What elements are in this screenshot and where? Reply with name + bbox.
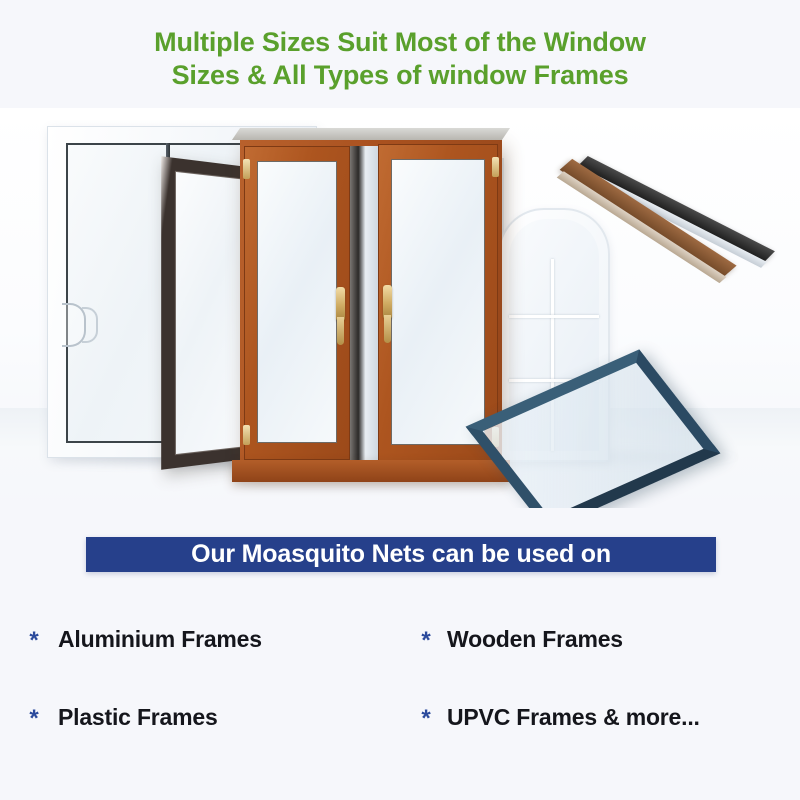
section-banner: Our Moasquito Nets can be used on xyxy=(86,537,716,572)
list-item: * Aluminium Frames xyxy=(10,600,405,678)
wooden-sash-left xyxy=(244,146,350,460)
bullet-asterisk-icon: * xyxy=(405,625,447,653)
list-item: * UPVC Frames & more... xyxy=(405,678,800,756)
brass-handle-arm-icon xyxy=(384,315,391,343)
hinge-icon xyxy=(243,425,250,445)
frame-type-list: * Aluminium Frames * Wooden Frames * Pla… xyxy=(0,600,800,756)
brass-handle-icon xyxy=(383,285,392,319)
list-item-label: UPVC Frames & more... xyxy=(447,704,700,731)
bullet-asterisk-icon: * xyxy=(405,703,447,731)
list-item: * Wooden Frames xyxy=(405,600,800,678)
page-title: Multiple Sizes Suit Most of the Window S… xyxy=(0,26,800,92)
arch-bar-horizontal xyxy=(509,315,599,318)
wooden-sash-right-glass xyxy=(391,159,485,445)
wooden-window-center-gap xyxy=(350,146,378,460)
product-banner-page: Multiple Sizes Suit Most of the Window S… xyxy=(0,0,800,800)
dark-window-glass xyxy=(175,171,247,455)
list-item-label: Plastic Frames xyxy=(58,704,218,731)
list-item: * Plastic Frames xyxy=(10,678,405,756)
brass-handle-arm-icon xyxy=(337,317,344,345)
wooden-double-casement xyxy=(240,138,502,468)
wooden-window-sill xyxy=(232,460,510,482)
headline-line-2: Sizes & All Types of window Frames xyxy=(0,59,800,92)
bullet-asterisk-icon: * xyxy=(10,625,58,653)
wooden-sash-right xyxy=(378,144,498,462)
hinge-icon xyxy=(243,159,250,179)
headline-line-1: Multiple Sizes Suit Most of the Window xyxy=(154,27,646,57)
door-pull-handle-secondary-icon xyxy=(82,307,98,343)
bullet-asterisk-icon: * xyxy=(10,703,58,731)
list-item-label: Wooden Frames xyxy=(447,626,623,653)
list-item-label: Aluminium Frames xyxy=(58,626,262,653)
hinge-icon xyxy=(492,157,499,177)
wooden-sash-left-glass xyxy=(257,161,337,443)
hero-product-image xyxy=(0,108,800,508)
brass-handle-icon xyxy=(336,287,345,321)
wooden-window-head-trim xyxy=(232,128,510,140)
section-banner-label: Our Moasquito Nets can be used on xyxy=(191,540,611,569)
